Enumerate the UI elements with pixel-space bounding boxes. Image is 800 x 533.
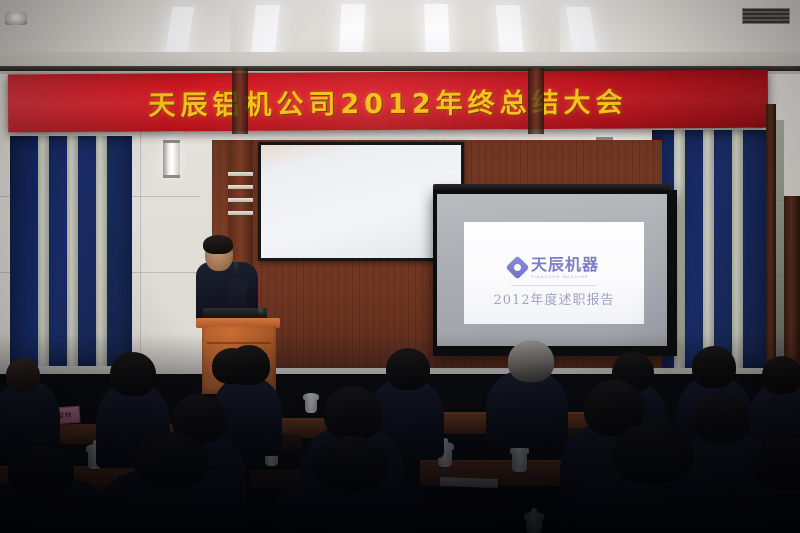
wood-trim-bar-1 [228, 172, 253, 176]
slide-logo: 天辰机器 TIANCHEN MACHINE [464, 257, 644, 279]
slide-logo-chinese: 天辰机器 [531, 257, 599, 273]
projected-slide: 天辰机器 TIANCHEN MACHINE 2012年度述职报告 [464, 222, 644, 324]
podium-groove [207, 342, 271, 344]
wall-panel-left-stripe-3 [96, 136, 107, 366]
wall-seam-vertical-1 [140, 130, 141, 360]
audience-head-front-1 [8, 446, 74, 494]
audience-head-back-2 [110, 352, 156, 396]
wall-panel-right-stripe-2 [703, 130, 714, 368]
audience-head-back-4 [386, 348, 430, 390]
slide-logo-english: TIANCHEN MACHINE [531, 275, 589, 279]
air-vent-icon [742, 8, 790, 24]
right-door-frame [766, 104, 776, 384]
audience-head-front-3 [312, 436, 388, 492]
paper-sheet-2 [440, 477, 498, 488]
slide-divider [511, 285, 597, 286]
audience-head-back-8 [762, 356, 800, 394]
conference-room-photo: 天辰机器 TIANCHEN MACHINE 2012年度述职报告 天辰铝机公司2… [0, 0, 800, 533]
wood-trim-bar-2 [228, 185, 253, 189]
event-banner-text: 天辰铝机公司2012年终总结大会 [148, 80, 627, 122]
teacup-5 [526, 518, 542, 533]
teacup-5-knob [531, 508, 537, 514]
audience-head-back-5-gray [508, 340, 554, 382]
teacup-6-lid [303, 393, 319, 400]
speaker-hair [203, 235, 233, 254]
audience-head-mid-2 [324, 386, 382, 440]
podium-mic-knob [258, 307, 265, 315]
wall-panel-left-stripe-2 [67, 136, 78, 366]
audience-head-mid-4 [694, 394, 750, 444]
pillar-overlap-right [528, 68, 544, 134]
wood-trim-bar-3 [228, 198, 253, 202]
wall-light-left-icon [163, 140, 180, 178]
audience-head-back-1 [6, 358, 40, 392]
slide-title: 2012年度述职报告 [464, 289, 644, 308]
audience-head-front-4 [612, 424, 694, 484]
teacup-6 [305, 398, 317, 413]
recessed-spotlight-icon [5, 12, 27, 25]
wall-panel-left [10, 136, 132, 366]
event-banner: 天辰铝机公司2012年终总结大会 [8, 70, 768, 133]
audience-head-near-podium [212, 348, 252, 384]
pillar-overlap-left [232, 68, 248, 134]
wall-panel-right-stripe-3 [732, 130, 743, 368]
tianchen-diamond-logo-icon [505, 256, 529, 280]
audience-head-front-2 [134, 432, 208, 488]
audience-head-back-7 [692, 346, 736, 388]
wall-panel-left-stripe-1 [38, 136, 49, 366]
wood-trim-bar-4 [228, 211, 253, 215]
teacup-4 [512, 452, 527, 472]
